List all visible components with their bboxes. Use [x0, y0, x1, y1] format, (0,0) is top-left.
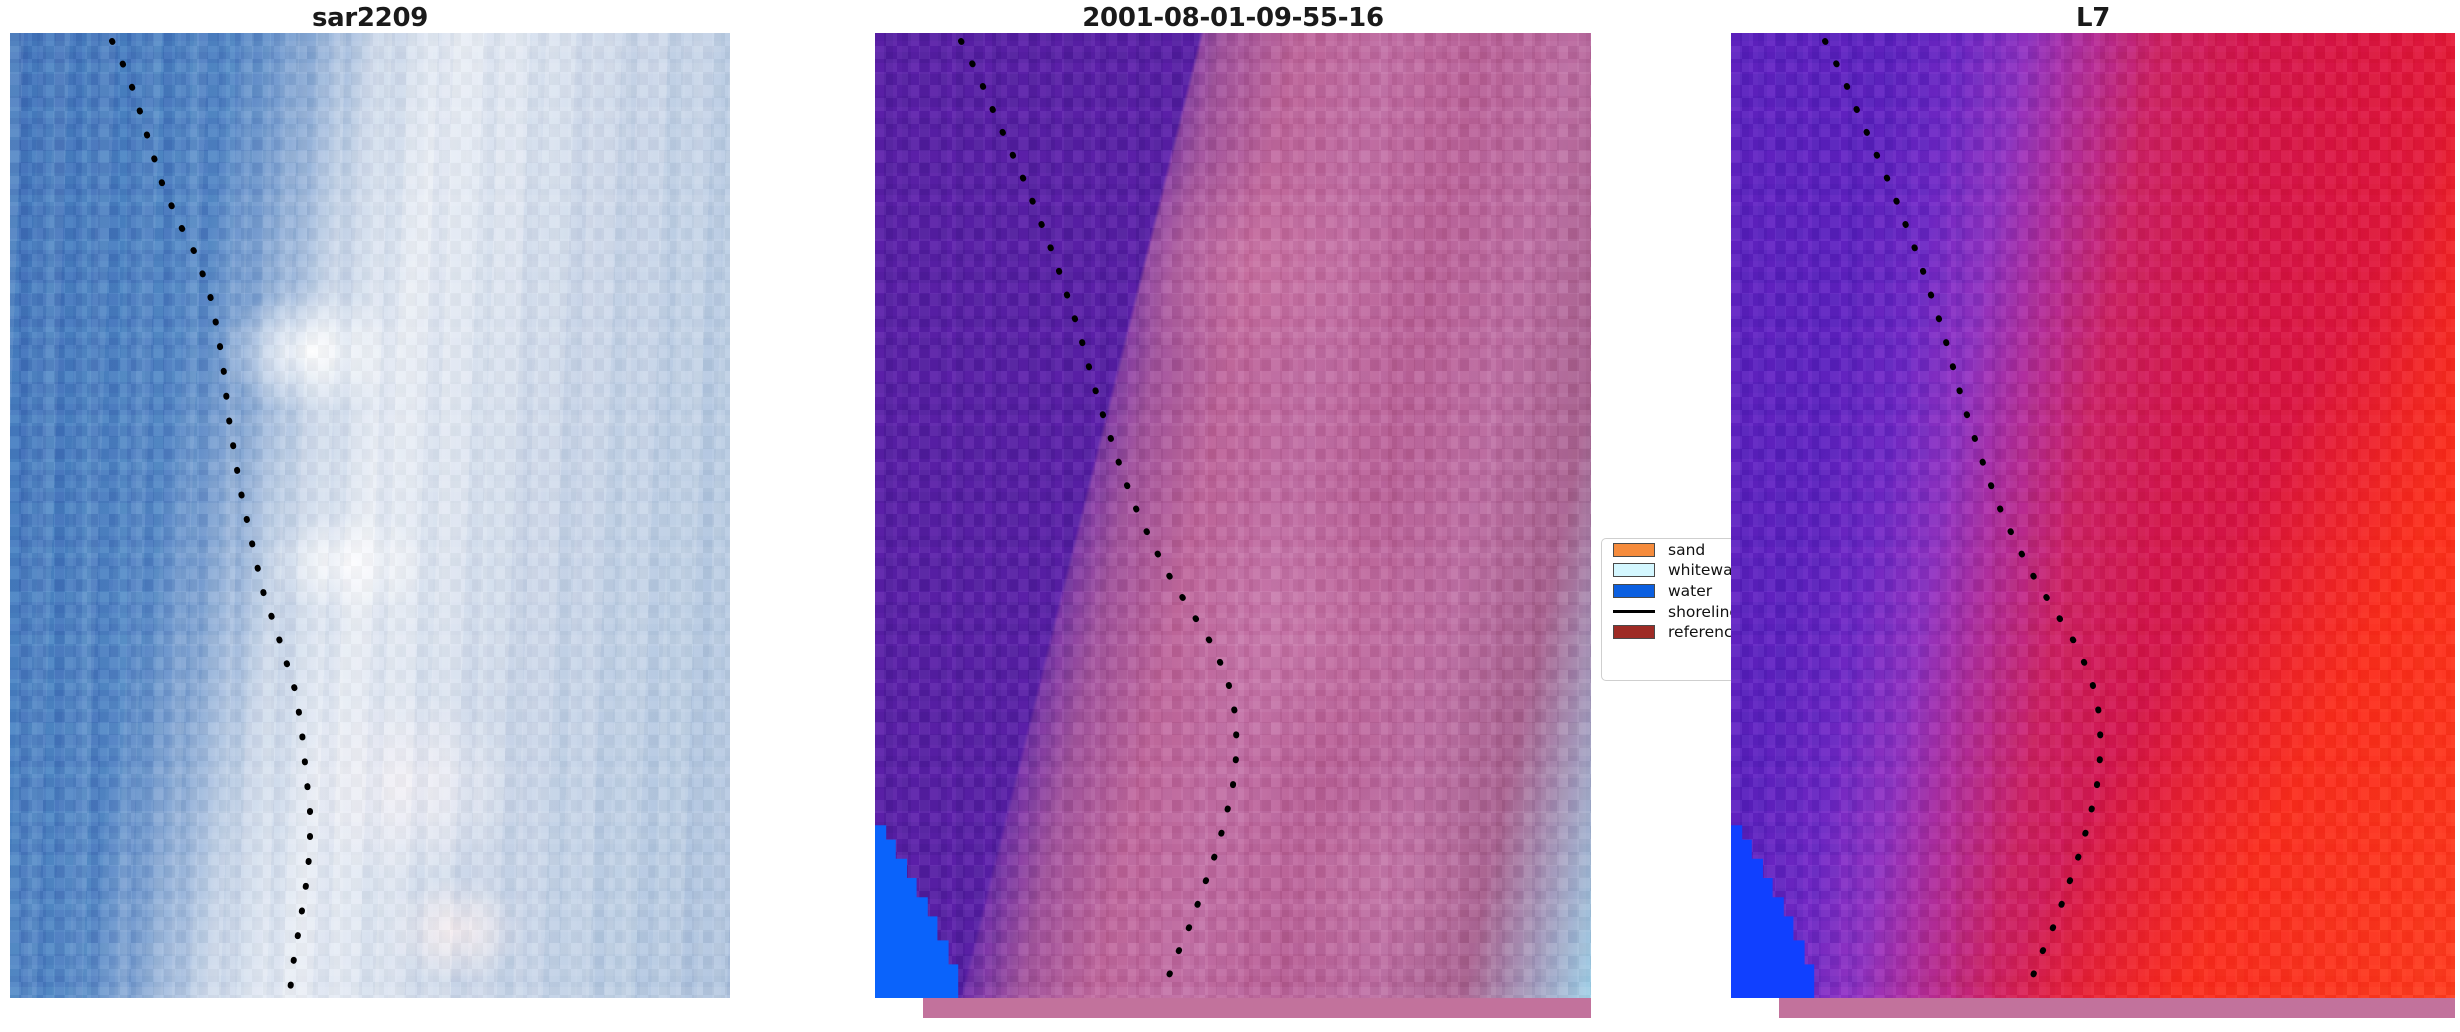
panel-classification: 2001-08-01-09-55-16 [875, 0, 1591, 1018]
legend-label-sand: sand [1668, 541, 1705, 559]
reference-swatch-icon [1613, 625, 1655, 639]
raster-sar2209 [10, 33, 730, 998]
legend-item-sand[interactable]: sand [1602, 540, 1750, 560]
legend-item-water[interactable]: water [1602, 581, 1750, 601]
legend-item-shoreline[interactable]: shoreline [1602, 602, 1750, 622]
legend-box: sand whitewater water shoreline referenc… [1601, 538, 1751, 681]
sand-swatch-icon [1613, 543, 1655, 557]
raster-l7 [1731, 33, 2455, 998]
panel-title-l7: L7 [1731, 3, 2455, 33]
water-swatch-icon [1613, 584, 1655, 598]
raster-classification [875, 33, 1591, 998]
panel-sar2209: sar2209 [10, 0, 730, 998]
legend-item-whitewater[interactable]: whitewater [1602, 561, 1750, 581]
reference-band-classification [923, 998, 1591, 1018]
axes-l7[interactable] [1731, 33, 2455, 998]
panel-l7: L7 [1731, 0, 2455, 1018]
axes-classification[interactable] [875, 33, 1591, 998]
whitewater-swatch-icon [1613, 563, 1655, 577]
panel-title-classification: 2001-08-01-09-55-16 [875, 3, 1591, 33]
legend-label-shoreline: shoreline [1668, 603, 1739, 621]
figure-canvas: sar2209 2001-08-01-09-55-16 [0, 0, 2460, 1032]
legend-label-water: water [1668, 582, 1712, 600]
legend-item-reference[interactable]: reference [1602, 622, 1750, 642]
shoreline-line-icon [1613, 610, 1655, 613]
panel-title-sar2209: sar2209 [10, 3, 730, 33]
axes-sar2209[interactable] [10, 33, 730, 998]
reference-band-l7 [1779, 998, 2455, 1018]
